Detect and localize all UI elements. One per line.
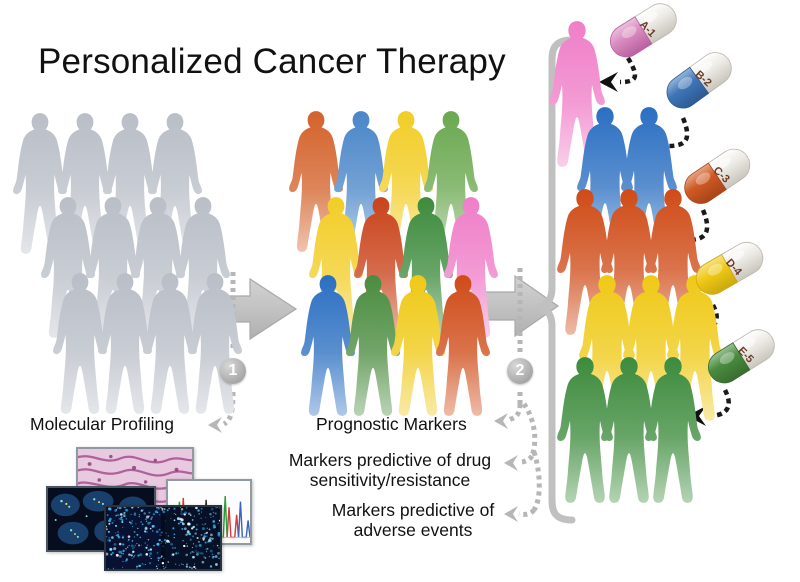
adverse-events-label: Markers predictive of adverse events — [310, 500, 516, 541]
step-1-marker: 1 — [220, 358, 246, 384]
step-2-marker: 2 — [507, 358, 533, 384]
drug-sensitivity-label: Markers predictive of drug sensitivity/r… — [264, 450, 516, 491]
infographic-canvas: Personalized Cancer Therapy — [0, 0, 800, 582]
prognostic-markers-label: Prognostic Markers — [316, 414, 467, 434]
microarray-panel — [104, 505, 222, 571]
molecular-profiling-label: Molecular Profiling — [30, 414, 174, 434]
cohort-e-5-figure-3 — [644, 356, 702, 504]
